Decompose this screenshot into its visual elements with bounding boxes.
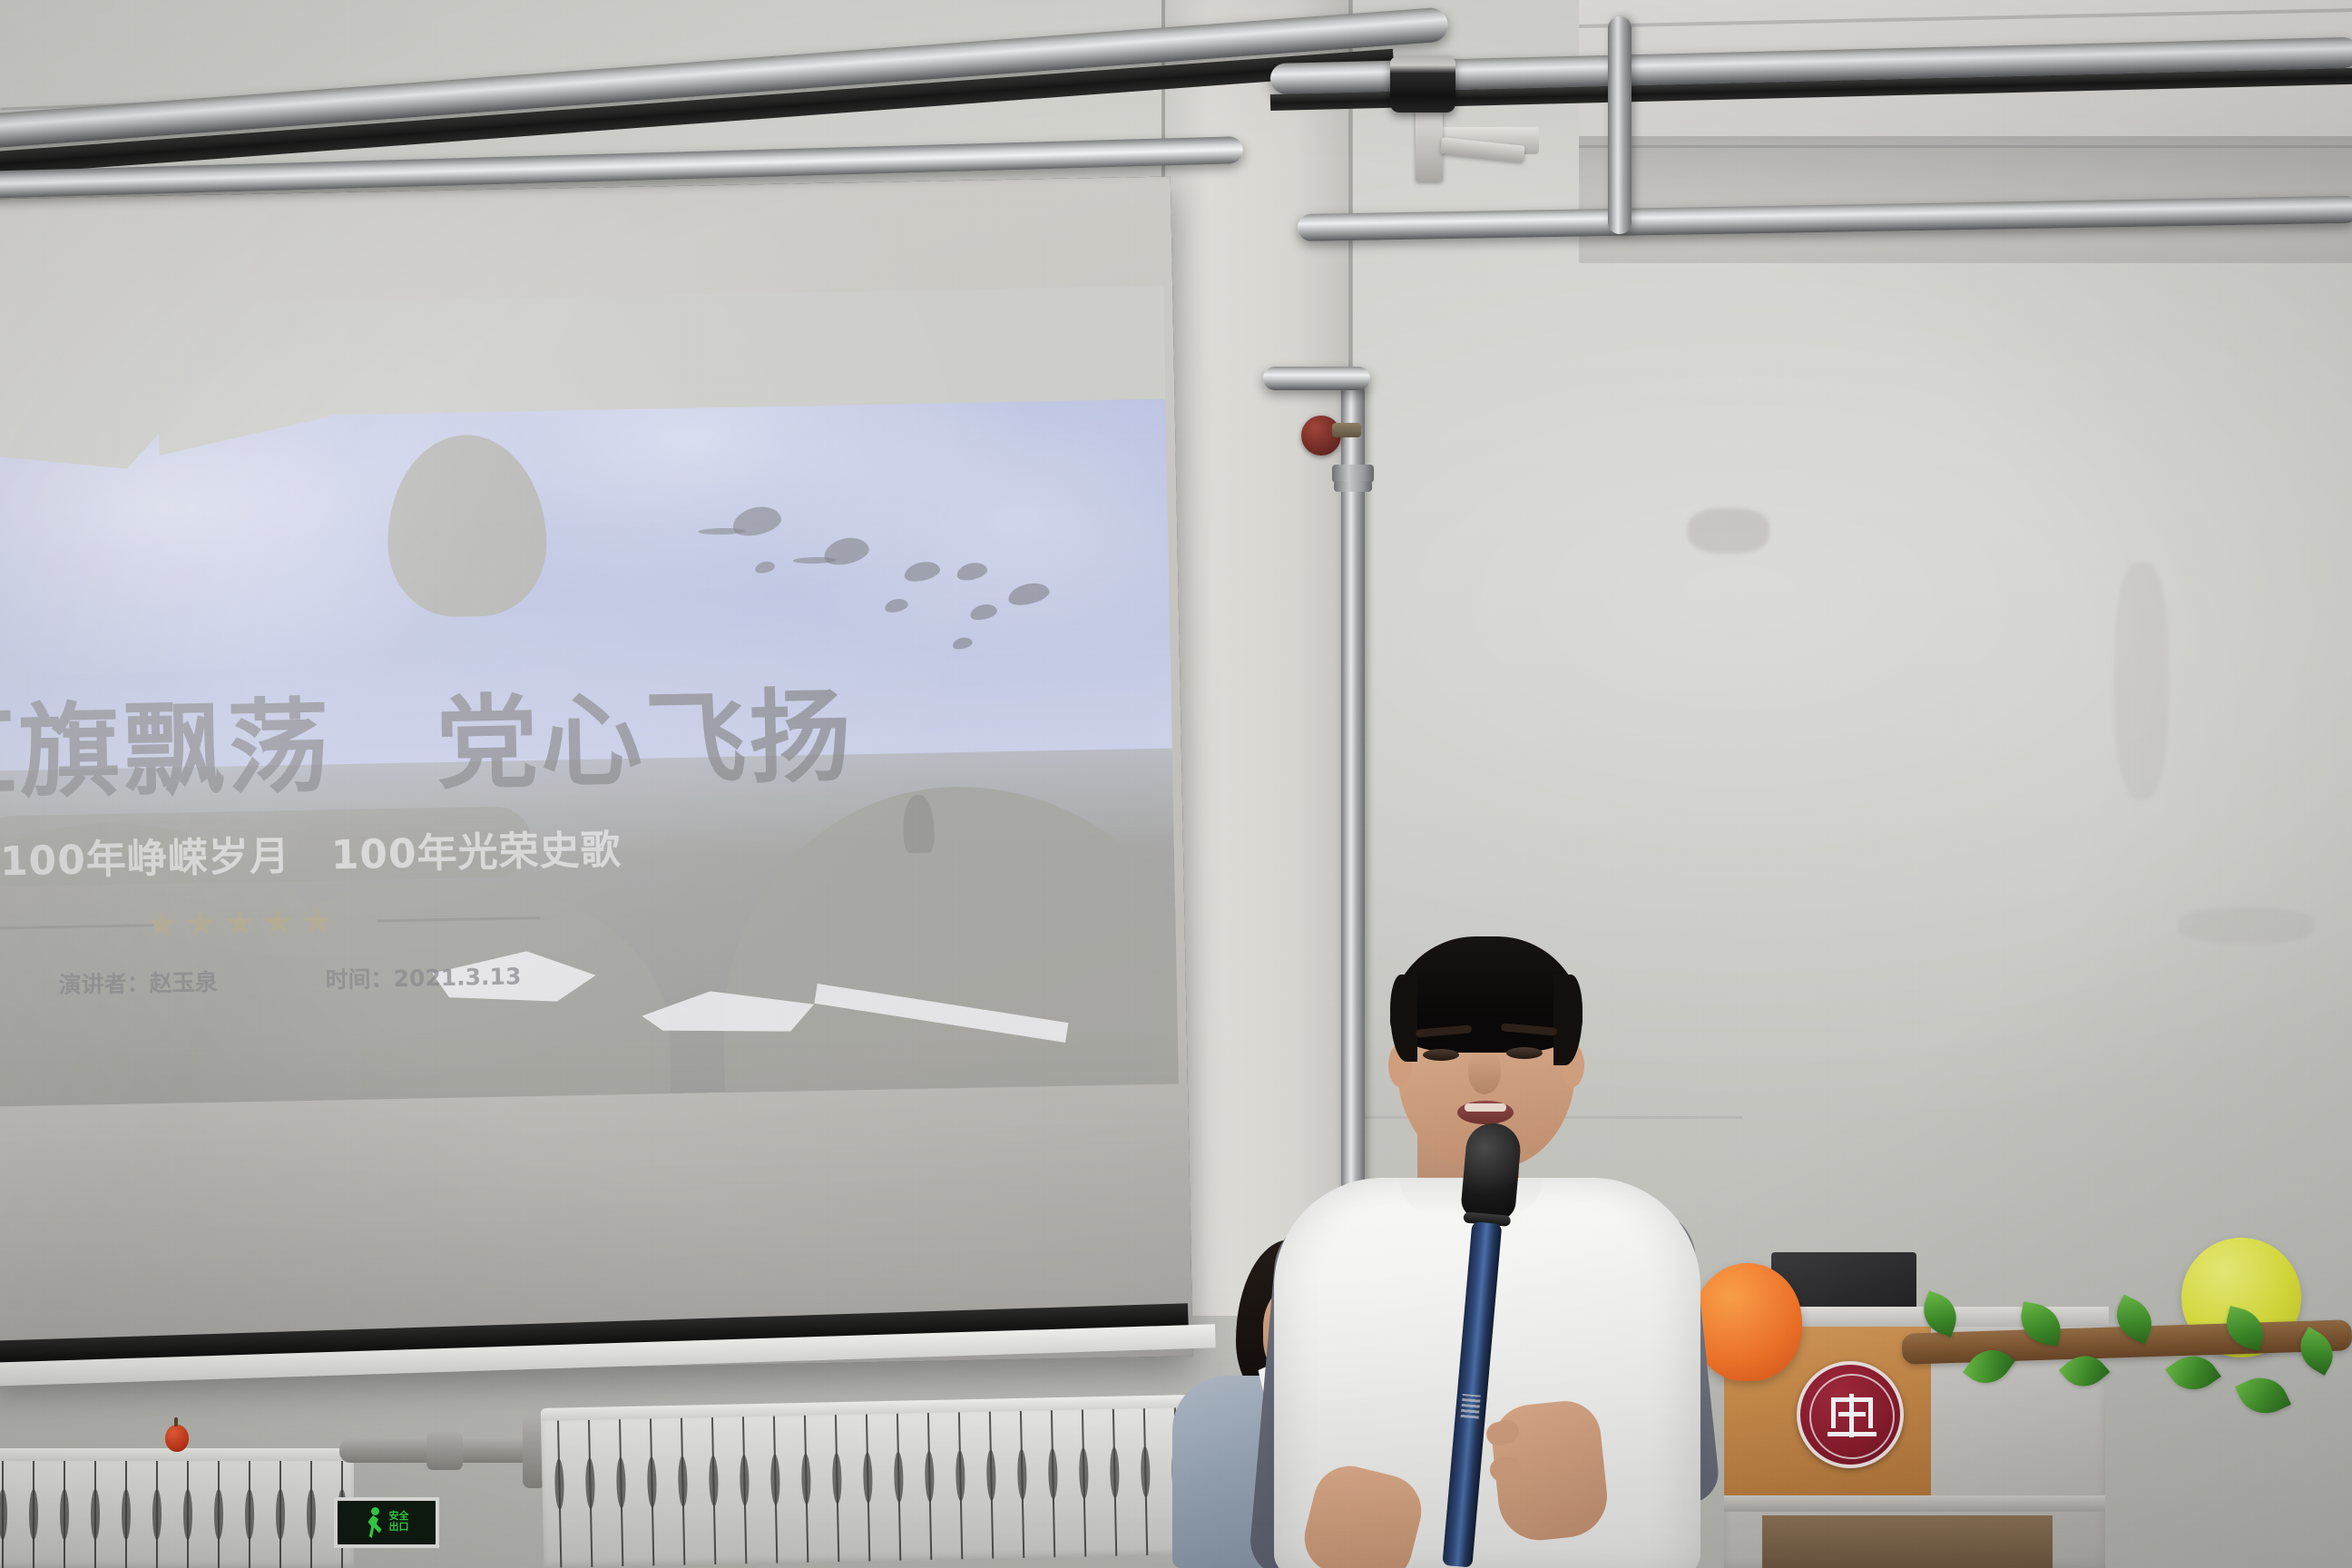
radiator-fin — [711, 1417, 716, 1564]
speaker-nose — [1468, 1051, 1501, 1094]
emergency-exit-sign: 安全 出口 — [334, 1497, 439, 1548]
slide-star-rating: ★★★★★ — [145, 900, 340, 946]
orange-balloon — [1693, 1263, 1802, 1381]
radiator-fin — [866, 1414, 870, 1561]
radiator-fin — [1143, 1408, 1148, 1555]
radiator-fin — [989, 1412, 994, 1559]
microphone-logo-icon — [1461, 1394, 1481, 1419]
wall-scuff-1 — [1688, 508, 1769, 554]
radiator-fin — [958, 1412, 963, 1559]
radiator-fin — [742, 1416, 747, 1563]
radiator-fin — [249, 1461, 250, 1568]
radiator-fin — [94, 1461, 96, 1568]
radiator-fin — [310, 1461, 312, 1568]
surveillance-camera-icon — [1390, 56, 1455, 113]
speaker-teeth — [1465, 1103, 1506, 1112]
radiator-right — [541, 1406, 1233, 1568]
radiator-fin — [125, 1461, 127, 1568]
slide-top-mask — [0, 286, 1165, 423]
radiator-fin — [619, 1419, 623, 1566]
radiator-fin — [897, 1414, 901, 1561]
radiator-fin — [187, 1461, 189, 1568]
speaker-eye-right — [1506, 1047, 1543, 1059]
radiator-left — [0, 1461, 354, 1568]
exit-sign-text: 安全 出口 — [389, 1512, 409, 1533]
wall-pipe-vertical-upper — [1608, 16, 1632, 234]
wall-scuff-2 — [2114, 563, 2169, 799]
slide-title: 红旗飘荡 党心飞扬 — [0, 650, 1095, 819]
screen-surface: 红旗飘荡 党心飞扬 100年峥嵘岁月 100年光荣史歌 ★★★★★ 演讲者：赵玉… — [0, 176, 1193, 1378]
radiator-union-nut — [426, 1432, 463, 1470]
pipe-collar-upper — [1332, 465, 1374, 483]
radiator-fin — [927, 1413, 932, 1560]
podium-lower-shelf — [1762, 1515, 2053, 1568]
radiator-fin — [681, 1418, 685, 1565]
radiator-fin — [33, 1461, 34, 1568]
radiator-fin — [64, 1461, 65, 1568]
radiator-fin — [1020, 1411, 1024, 1558]
radiator-fin — [2, 1461, 4, 1568]
radiator-fin — [1051, 1410, 1055, 1557]
radiator-fin — [218, 1461, 220, 1568]
radiator-fin — [156, 1461, 158, 1568]
radiator-fin — [588, 1420, 593, 1567]
wall-scuff-3 — [2178, 907, 2314, 944]
wall-seam-alcove — [1579, 145, 2352, 148]
radiator-fin — [279, 1461, 281, 1568]
radiator-fin — [804, 1416, 808, 1563]
projection-screen: 红旗飘荡 党心飞扬 100年峥嵘岁月 100年光荣史歌 ★★★★★ 演讲者：赵玉… — [0, 176, 1193, 1378]
radiator-fin — [650, 1418, 654, 1565]
radiator-fin — [557, 1421, 562, 1568]
slide-date: 时间：2021.3.13 — [325, 958, 521, 995]
slide-subtitle: 100年峥嵘岁月 100年光荣史歌 — [0, 818, 544, 887]
emblem-glyph-icon — [1828, 1392, 1877, 1441]
wall-pipe-elbow — [1263, 367, 1370, 390]
camera-arm — [1416, 109, 1443, 181]
running-man-icon — [365, 1507, 385, 1538]
speaker-eye-left — [1423, 1049, 1459, 1061]
photo-scene: 红旗飘荡 党心飞扬 100年峥嵘岁月 100年光荣史歌 ★★★★★ 演讲者：赵玉… — [0, 0, 2352, 1568]
university-emblem — [1797, 1361, 1904, 1468]
radiator-fin — [1112, 1409, 1117, 1556]
podium-lower-lip — [1724, 1495, 2105, 1512]
radiator-fin — [835, 1415, 839, 1562]
radiator-fin — [1082, 1409, 1086, 1556]
radiator-red-vent-knob[interactable] — [165, 1425, 189, 1452]
slide-presenter: 演讲者：赵玉泉 — [58, 965, 218, 1000]
pipe-valve-stem — [1332, 423, 1361, 437]
radiator-fin — [773, 1416, 778, 1563]
microphone-head-icon — [1460, 1121, 1523, 1221]
projected-slide: 红旗飘荡 党心飞扬 100年峥嵘岁月 100年光荣史歌 ★★★★★ 演讲者：赵玉… — [0, 286, 1179, 1108]
pipe-collar-mid — [1334, 481, 1372, 492]
